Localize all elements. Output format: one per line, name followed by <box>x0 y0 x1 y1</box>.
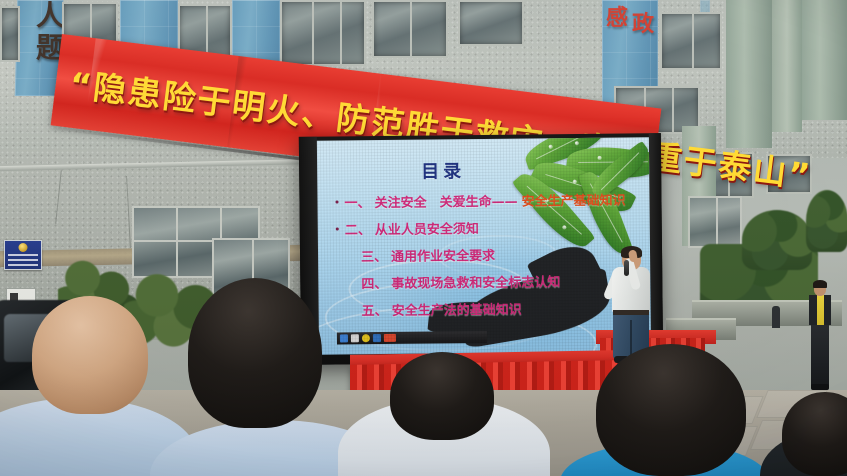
attendant-shoes <box>811 384 829 390</box>
list-item-number: 二、 <box>345 219 371 238</box>
desktop-taskbar[interactable] <box>337 331 487 345</box>
building-window <box>660 12 722 70</box>
wall-char-right-2: 政 <box>632 14 654 36</box>
police-notice-plaque <box>4 240 42 270</box>
badge-emblem-icon <box>19 243 28 252</box>
list-item-label: 从业人员安全须知 <box>375 218 479 238</box>
list-item-label: 关注安全 关爱生命—— <box>374 191 517 211</box>
list-item-number: 五、 <box>362 300 388 319</box>
list-item-accent: 安全生产基础知识 <box>521 189 625 209</box>
list-item-label: 通用作业安全要求 <box>391 245 495 265</box>
slides-icon[interactable] <box>384 334 396 342</box>
audience-head <box>188 278 322 428</box>
list-item-label: 安全生产法的基础知识 <box>392 299 522 319</box>
list-item-number: 三、 <box>361 246 387 265</box>
start-icon[interactable] <box>340 334 348 342</box>
slide-title: 目录 <box>317 155 649 184</box>
standing-attendant <box>806 282 834 400</box>
list-item-number: 一、 <box>344 192 370 211</box>
bullet-icon <box>336 227 339 230</box>
attendant-vest <box>809 295 817 325</box>
bullet-icon <box>335 200 338 203</box>
attendant-trousers <box>811 324 829 386</box>
list-item: 二、 从业人员安全须知 <box>336 216 642 238</box>
slide-toc-list: 一、 关注安全 关爱生命—— 安全生产基础知识 二、 从业人员安全须知 三、 通… <box>335 189 642 327</box>
facade-column <box>726 0 772 148</box>
list-item-number: 四、 <box>361 273 387 292</box>
microphone-icon <box>624 260 629 276</box>
list-item: 四、 事故现场急救和安全标志认知 <box>336 270 642 292</box>
attendant-vest <box>824 295 831 325</box>
attendant-hair <box>813 280 827 288</box>
building-window <box>0 6 20 62</box>
browser-icon[interactable] <box>373 334 381 342</box>
audience-head <box>596 344 746 476</box>
building-window <box>458 0 524 46</box>
facade-column <box>802 0 847 120</box>
folder-icon[interactable] <box>351 334 359 342</box>
list-item: 五、 安全生产法的基础知识 <box>337 297 643 319</box>
wall-char-left-1: 人 <box>36 2 64 30</box>
distant-person <box>772 306 780 328</box>
wall-char-right-1: 感 <box>606 8 628 30</box>
list-item: 三、 通用作业安全要求 <box>336 243 642 265</box>
photo-scene: 人 题 感 政 <box>0 0 847 476</box>
tree-canopy <box>806 190 847 252</box>
list-item-label: 事故现场急救和安全标志认知 <box>391 271 560 292</box>
audience-head <box>390 352 494 440</box>
presentation-slide: 目录 一、 关注安全 关爱生命—— 安全生产基础知识 二、 从业人员安全须知 三… <box>317 137 651 354</box>
shield-icon[interactable] <box>362 334 370 342</box>
facade-column <box>772 0 802 132</box>
audience-head <box>782 392 847 476</box>
list-item: 一、 关注安全 关爱生命—— 安全生产基础知识 <box>335 189 641 211</box>
building-glazing <box>688 196 742 248</box>
building-window <box>372 0 448 58</box>
presenter-belt <box>613 310 649 315</box>
audience-head <box>32 296 148 414</box>
tree-canopy <box>742 210 812 270</box>
building-window <box>280 0 366 66</box>
